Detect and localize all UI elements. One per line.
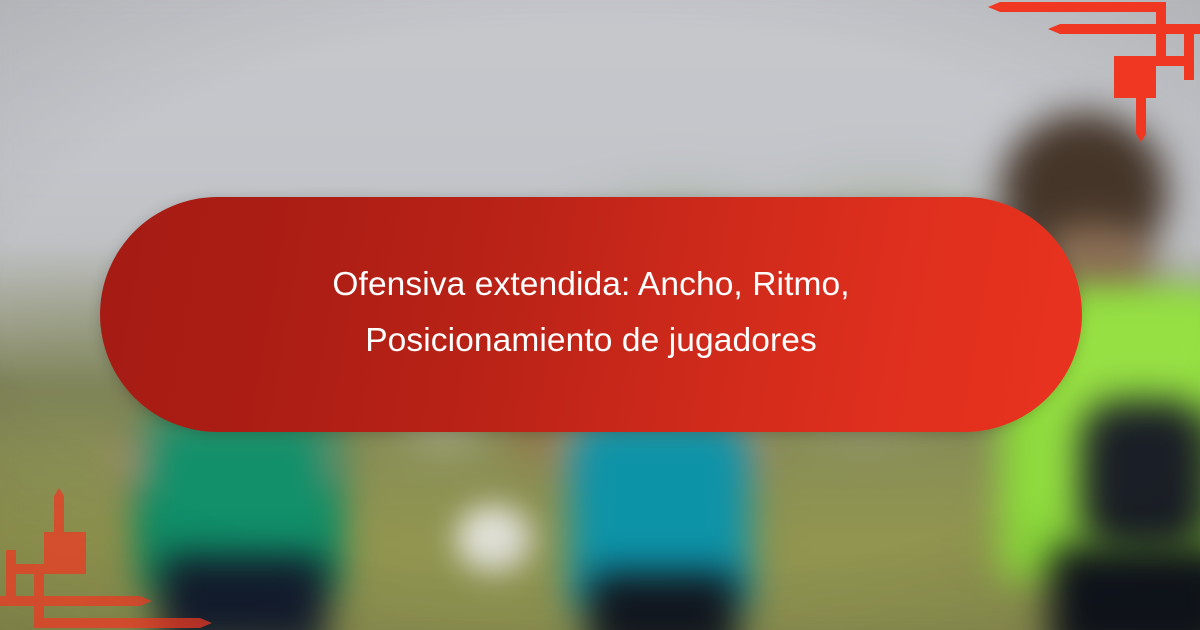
corner-bracket-bottom-left [0, 480, 220, 630]
banner-title: Ofensiva extendida: Ancho, Ritmo, Posici… [332, 257, 849, 373]
banner-title-line-2: Posicionamiento de jugadores [332, 313, 849, 369]
social-share-card: Ofensiva extendida: Ancho, Ritmo, Posici… [0, 0, 1200, 630]
corner-bracket-bottom-left-icon [0, 480, 220, 630]
corner-bracket-top-right [980, 0, 1200, 150]
corner-bracket-top-right-icon [980, 0, 1200, 150]
title-banner: Ofensiva extendida: Ancho, Ritmo, Posici… [100, 197, 1082, 432]
banner-title-line-1: Ofensiva extendida: Ancho, Ritmo, [332, 257, 849, 313]
